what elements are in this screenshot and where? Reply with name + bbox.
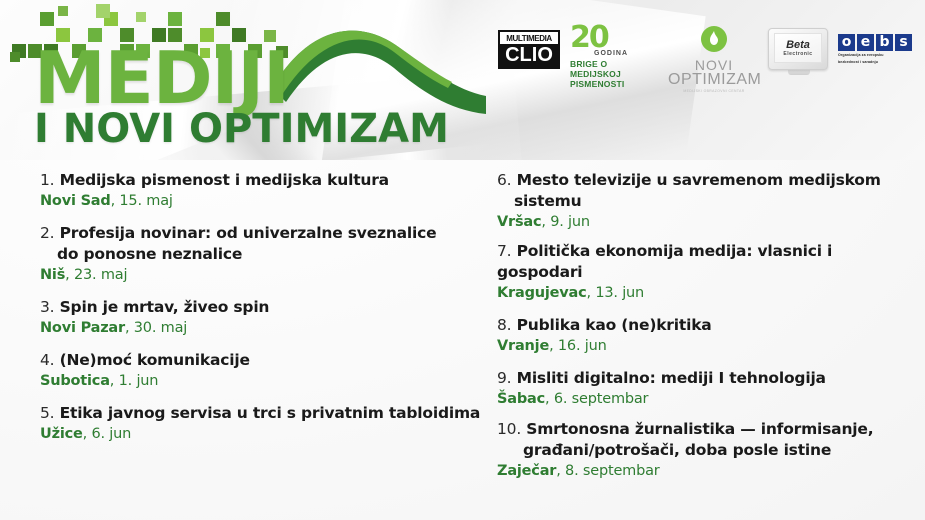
event-city: Vršac xyxy=(497,214,541,230)
event-city: Kragujevac xyxy=(497,285,587,301)
event-number: 3. xyxy=(40,298,54,316)
event-date: , 13. jun xyxy=(587,285,645,301)
oebs-subtitle-2: bezbednost i saradnju xyxy=(838,60,916,65)
event-title-text: Publika kao (ne)kritika xyxy=(517,316,712,334)
event-title-text: Misliti digitalno: mediji I tehnologija xyxy=(517,369,826,387)
event-logo-wordmark: MEDIJI I NOVI OPTIMIZAM xyxy=(34,44,504,156)
event-date: , 6. jun xyxy=(83,426,131,442)
event-title-text: (Ne)moć komunikacije xyxy=(60,351,250,369)
event-title: 7. Politička ekonomija medija: vlasnici … xyxy=(497,241,922,283)
event-item: 5. Etika javnog servisa u trci s privatn… xyxy=(40,403,485,444)
event-number: 8. xyxy=(497,316,511,334)
event-date: , 16. jun xyxy=(549,338,607,354)
event-city: Subotica xyxy=(40,373,110,389)
event-meta: Kragujevac, 13. jun xyxy=(497,283,922,303)
wordmark-mediji: MEDIJI xyxy=(34,44,504,112)
event-item: 4. (Ne)moć komunikacije Subotica, 1. jun xyxy=(40,350,485,391)
event-number: 9. xyxy=(497,369,511,387)
event-title: 4. (Ne)moć komunikacije xyxy=(40,350,485,371)
beta-label: Beta xyxy=(786,40,810,51)
event-city: Novi Sad xyxy=(40,193,111,209)
oebs-subtitle-1: Organizacija za evropsku xyxy=(838,53,916,58)
novi-optimizam-tagline: MEDIJSKI OBRAZOVNI CENTAR xyxy=(668,89,760,93)
event-list-left-column: 1. Medijska pismenost i medijska kultura… xyxy=(40,170,485,448)
event-title-continuation: građani/potrošači, doba posle istine xyxy=(497,440,922,461)
poster-header: MEDIJI I NOVI OPTIMIZAM MULTIMEDIA CLIO … xyxy=(0,0,925,160)
event-number: 2. xyxy=(40,224,54,242)
event-meta: Zaječar, 8. septembar xyxy=(497,461,922,481)
event-city: Užice xyxy=(40,426,83,442)
event-title: 5. Etika javnog servisa u trci s privatn… xyxy=(40,403,485,424)
brige-line-3: PISMENOSTI xyxy=(570,79,656,89)
event-meta: Užice, 6. jun xyxy=(40,424,485,444)
event-date: , 30. maj xyxy=(125,320,187,336)
novi-optimizam-line-2: OPTIMIZAM xyxy=(668,72,760,87)
event-meta: Subotica, 1. jun xyxy=(40,371,485,391)
event-city: Zaječar xyxy=(497,463,556,479)
sponsor-logo-strip: MULTIMEDIA CLIO 20 GODINA BRIGE O MEDIJS… xyxy=(490,24,915,88)
event-date: , 8. septembar xyxy=(556,463,659,479)
event-title: 10. Smrtonosna žurnalistika — informisan… xyxy=(497,419,922,461)
event-number: 7. xyxy=(497,242,511,260)
poster-canvas: MEDIJI I NOVI OPTIMIZAM MULTIMEDIA CLIO … xyxy=(0,0,925,520)
event-city: Vranje xyxy=(497,338,549,354)
flame-drop-icon xyxy=(701,26,727,52)
event-title-text: Spin je mrtav, živeo spin xyxy=(60,298,270,316)
event-date: , 6. septembar xyxy=(545,391,648,407)
event-number: 5. xyxy=(40,404,54,422)
event-date: , 23. maj xyxy=(65,267,127,283)
event-item: 8. Publika kao (ne)kritika Vranje, 16. j… xyxy=(497,315,922,356)
event-title-continuation: sistemu xyxy=(497,191,922,212)
event-item: 3. Spin je mrtav, živeo spin Novi Pazar,… xyxy=(40,297,485,338)
oebs-letter-e: e xyxy=(857,34,874,51)
event-city: Novi Pazar xyxy=(40,320,125,336)
event-number: 10. xyxy=(497,420,521,438)
event-date: , 1. jun xyxy=(110,373,158,389)
logo-multimedia-clio: MULTIMEDIA CLIO xyxy=(498,30,560,69)
logo-beta-electronic: Beta Electronic xyxy=(768,28,830,75)
oebs-letter-b: b xyxy=(876,34,893,51)
electronic-label: Electronic xyxy=(783,51,812,57)
monitor-stand xyxy=(788,70,810,75)
event-number: 1. xyxy=(40,171,54,189)
event-title-text: Smrtonosna žurnalistika — informisanje, xyxy=(526,420,873,438)
event-title: 1. Medijska pismenost i medijska kultura xyxy=(40,170,485,191)
wordmark-i-novi-optimizam: I NOVI OPTIMIZAM xyxy=(34,108,504,150)
event-title-text: Etika javnog servisa u trci s privatnim … xyxy=(60,404,481,422)
crt-monitor-icon: Beta Electronic xyxy=(768,28,828,70)
event-title: 6. Mesto televizije u savremenom medijsk… xyxy=(497,170,922,212)
event-item: 1. Medijska pismenost i medijska kultura… xyxy=(40,170,485,211)
event-title-text: Medijska pismenost i medijska kultura xyxy=(60,171,389,189)
clio-top-label: MULTIMEDIA xyxy=(500,32,558,44)
brige-line-2: MEDIJSKOJ xyxy=(570,69,656,79)
event-title: 9. Misliti digitalno: mediji I tehnologi… xyxy=(497,368,922,389)
event-number: 6. xyxy=(497,171,511,189)
oebs-letter-s: s xyxy=(895,34,912,51)
event-date: , 15. maj xyxy=(111,193,173,209)
event-title-text: Profesija novinar: od univerzalne svezna… xyxy=(60,224,437,242)
event-meta: Novi Pazar, 30. maj xyxy=(40,318,485,338)
event-meta: Vranje, 16. jun xyxy=(497,336,922,356)
event-item: 2. Profesija novinar: od univerzalne sve… xyxy=(40,223,485,285)
twenty-years-number: 20 xyxy=(570,24,656,52)
event-title: 8. Publika kao (ne)kritika xyxy=(497,315,922,336)
event-title: 3. Spin je mrtav, živeo spin xyxy=(40,297,485,318)
event-meta: Vršac, 9. jun xyxy=(497,212,922,232)
brige-line-1: BRIGE O xyxy=(570,59,656,69)
logo-novi-optimizam: NOVI OPTIMIZAM MEDIJSKI OBRAZOVNI CENTAR xyxy=(668,26,760,93)
event-city: Niš xyxy=(40,267,65,283)
event-item: 10. Smrtonosna žurnalistika — informisan… xyxy=(497,419,922,481)
oebs-letter-o: o xyxy=(838,34,855,51)
event-meta: Niš, 23. maj xyxy=(40,265,485,285)
event-date: , 9. jun xyxy=(541,214,589,230)
event-title: 2. Profesija novinar: od univerzalne sve… xyxy=(40,223,485,265)
event-title-continuation: do ponosne neznalice xyxy=(40,244,485,265)
event-title-text: Mesto televizije u savremenom medijskom xyxy=(517,171,881,189)
event-item: 6. Mesto televizije u savremenom medijsk… xyxy=(497,170,922,232)
clio-bottom-label: CLIO xyxy=(500,44,558,67)
event-item: 7. Politička ekonomija medija: vlasnici … xyxy=(497,241,922,303)
godina-label: GODINA xyxy=(594,50,656,57)
logo-20-godina: 20 GODINA BRIGE O MEDIJSKOJ PISMENOSTI xyxy=(570,24,656,89)
event-title-text: Politička ekonomija medija: vlasnici i g… xyxy=(497,242,832,281)
event-item: 9. Misliti digitalno: mediji I tehnologi… xyxy=(497,368,922,409)
event-meta: Novi Sad, 15. maj xyxy=(40,191,485,211)
event-city: Šabac xyxy=(497,391,545,407)
event-meta: Šabac, 6. septembar xyxy=(497,389,922,409)
event-number: 4. xyxy=(40,351,54,369)
logo-oebs: o e b s Organizacija za evropsku bezbedn… xyxy=(838,34,916,64)
event-list-right-column: 6. Mesto televizije u savremenom medijsk… xyxy=(497,170,922,485)
